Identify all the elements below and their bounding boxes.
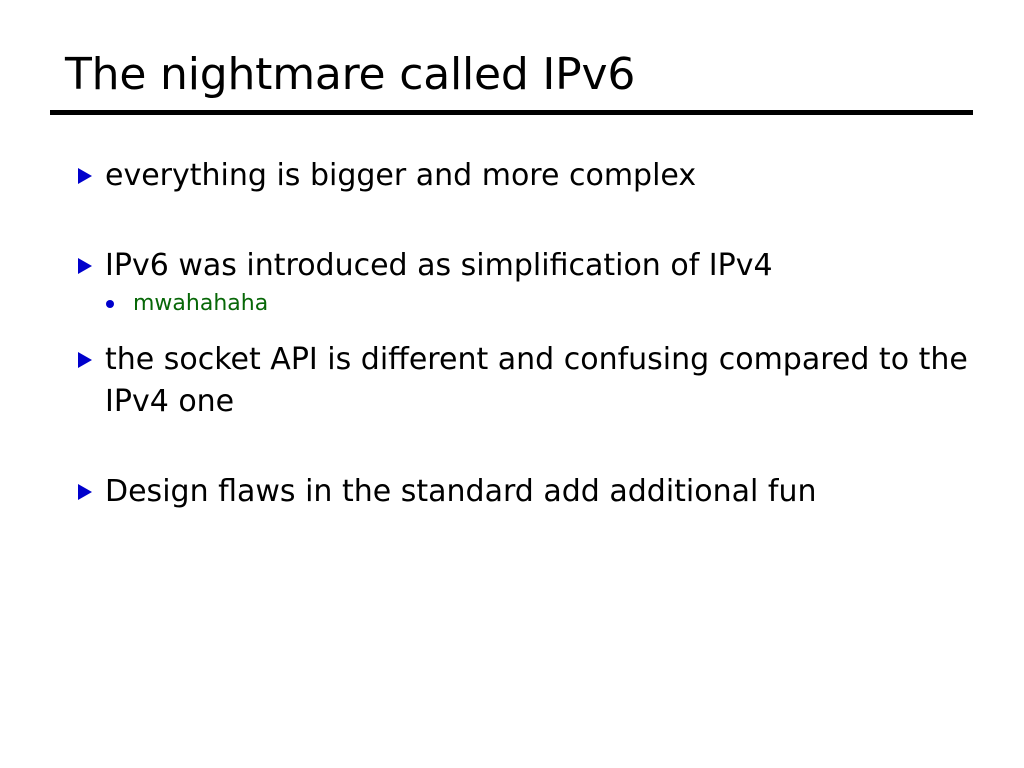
triangle-right-icon [78, 168, 92, 184]
page-title: The nightmare called IPv6 [50, 48, 973, 102]
list-item-label: everything is bigger and more complex [105, 155, 968, 197]
list-item-label: the socket API is different and confusin… [105, 339, 968, 423]
slide-title-block: The nightmare called IPv6 [50, 48, 973, 115]
list-item: IPv6 was introduced as simplification of… [78, 245, 968, 319]
sub-list-item: mwahahaha [105, 289, 968, 319]
dot-icon [106, 300, 114, 308]
sub-list-item-label: mwahahaha [133, 289, 968, 319]
triangle-right-icon [78, 484, 92, 500]
list-item-label: IPv6 was introduced as simplification of… [105, 245, 968, 287]
list-item: Design flaws in the standard add additio… [78, 471, 968, 513]
list-item: everything is bigger and more complex [78, 155, 968, 197]
list-item-label: Design flaws in the standard add additio… [105, 471, 968, 513]
slide-body-bullet-list: everything is bigger and more complex IP… [78, 155, 968, 513]
triangle-right-icon [78, 352, 92, 368]
list-item: the socket API is different and confusin… [78, 339, 968, 423]
triangle-right-icon [78, 258, 92, 274]
sub-bullet-list: mwahahaha [105, 289, 968, 319]
presentation-slide: The nightmare called IPv6 everything is … [0, 0, 1024, 768]
title-divider [50, 110, 973, 115]
